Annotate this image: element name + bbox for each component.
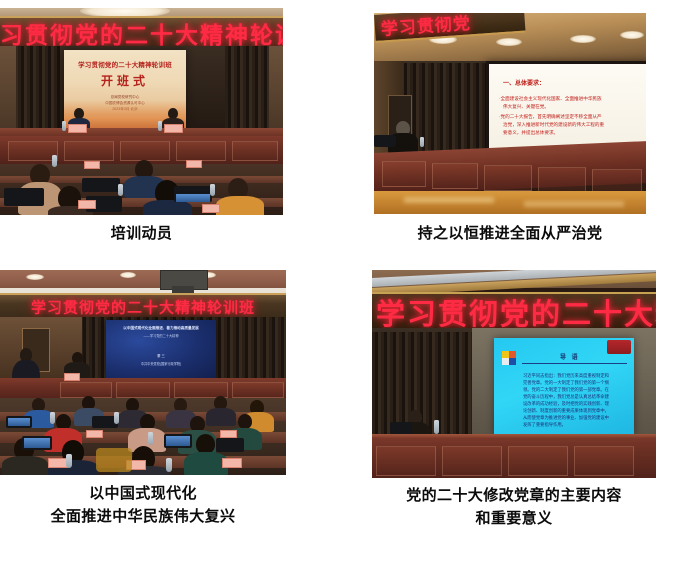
- strict-party-governance-photo[interactable]: 学习贯彻党 一、总体要求： ·全面建设社会主义现代化国家、全面推进中华民族 伟大…: [374, 13, 646, 214]
- screen-body-line-8: 发挥了重要指导作用。: [523, 422, 566, 428]
- projection-screen-4: 导 语 习近平同志指出：我们党历来高度重视制定和 完善党章。党的一大制定了我们党…: [494, 338, 634, 434]
- screen-body-line-1: ·全面建设社会主义现代化国家、全面推进中华民族: [499, 96, 602, 102]
- screen-presenter-3: 董 三: [106, 353, 216, 358]
- caption-line: 党的二十大修改党章的主要内容: [372, 484, 656, 507]
- screen-body-line-3: ·党的二十大报告，首先明确阐述坚定不移全面从严: [499, 114, 602, 120]
- chinese-modernization-photo[interactable]: 学习贯彻党的二十大精神轮训班 以中国式现代化全面推进、着力推动高质量发展 ——学…: [0, 270, 286, 475]
- party-constitution-revision-photo[interactable]: 学习贯彻党的二十大精 导 语: [372, 270, 656, 478]
- caption-line: 和重要意义: [372, 507, 656, 530]
- photo-cell-4: 学习贯彻党的二十大精 导 语: [372, 270, 656, 535]
- photo-caption-3: 以中国式现代化 全面推进中华民族伟大复兴: [0, 482, 286, 528]
- screen-body-line-4: 治党，深入推进新时代党的建设新的伟大工程的重: [503, 122, 604, 128]
- caption-line: 持之以恒推进全面从严治党: [374, 222, 646, 245]
- photo-caption-4: 党的二十大修改党章的主要内容 和重要意义: [372, 484, 656, 530]
- screen-subtitle-1: 开班式: [64, 72, 186, 89]
- caption-line: 全面推进中华民族伟大复兴: [0, 505, 286, 528]
- screen-body-line-2: 伟大复兴、关键在党。: [503, 104, 549, 110]
- photo-cell-1: 习贯彻党的二十大精神轮训 学习贯彻党的二十大精神轮训班 开班式 总局党校研究中心…: [0, 8, 283, 246]
- screen-body-line-5: 设改革的成功经验，及时把党的实践创新、理: [523, 401, 609, 407]
- screen-body-line-2: 完善党章。党的一大制定了我们党的第一个纲: [523, 380, 609, 386]
- screen-body-line-6: 论创新、制度创新的重要成果体现到党章中，: [523, 408, 609, 414]
- screen-heading-2: 一、总体要求：: [503, 78, 545, 87]
- screen-body-line-4: 党的奋斗历程中，我们党总是认真总结革命建: [523, 394, 609, 400]
- led-banner-text-4: 学习贯彻党的二十大精: [372, 292, 656, 333]
- caption-line: 以中国式现代化: [0, 482, 286, 505]
- screen-body-line-1: 习近平同志指出：我们党历来高度重视制定和: [523, 373, 609, 379]
- photo-caption-1: 培训动员: [0, 222, 283, 245]
- screen-title-1: 学习贯彻党的二十大精神轮训班: [64, 59, 186, 69]
- caption-line: 培训动员: [0, 222, 283, 245]
- projection-screen-3: 以中国式现代化全面推进、着力推动高质量发展 ——学习党的二十大精神 董 三 中共…: [106, 320, 216, 380]
- training-mobilization-photo[interactable]: 习贯彻党的二十大精神轮训 学习贯彻党的二十大精神轮训班 开班式 总局党校研究中心…: [0, 8, 283, 215]
- photo-cell-3: 学习贯彻党的二十大精神轮训班 以中国式现代化全面推进、着力推动高质量发展 ——学…: [0, 270, 286, 535]
- photo-grid: 习贯彻党的二十大精神轮训 学习贯彻党的二十大精神轮训班 开班式 总局党校研究中心…: [0, 0, 681, 570]
- screen-body-line-3: 领。党的二大制定了我们党的第一部党章。在: [523, 387, 609, 393]
- led-banner-text-3: 学习贯彻党的二十大精神轮训班: [0, 297, 286, 318]
- screen-subtitle-3: ——学习党的二十大精神: [106, 333, 216, 338]
- screen-title-3: 以中国式现代化全面推进、着力推动高质量发展: [106, 326, 216, 331]
- photo-caption-2: 持之以恒推进全面从严治党: [374, 222, 646, 245]
- screen-body-line-5: 要意义，并提出总体要求。: [503, 130, 558, 136]
- photo-cell-2: 学习贯彻党 一、总体要求： ·全面建设社会主义现代化国家、全面推进中华民族 伟大…: [374, 13, 646, 248]
- screen-affiliation-3: 中共中央党校(国家行政学院): [106, 361, 216, 366]
- screen-body-line-7: 从而使党章为推进党的事业、加强党的建设中: [523, 415, 609, 421]
- screen-title-4: 导 语: [560, 352, 580, 361]
- led-banner-text-1: 习贯彻党的二十大精神轮训: [0, 16, 283, 50]
